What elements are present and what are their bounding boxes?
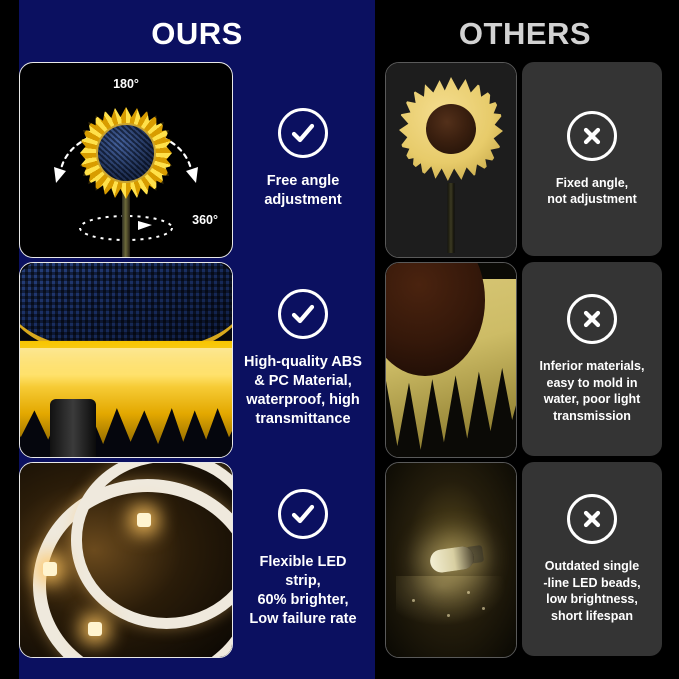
ours-caption-1: Free angle adjustment [262, 172, 343, 210]
others-text-card-3: Outdated single -line LED beads, low bri… [522, 462, 662, 656]
panel-closeup-scene [20, 263, 232, 457]
ours-text-card-3: Flexible LED strip, 60% brighter, Low fa… [238, 462, 368, 656]
others-caption-1: Fixed angle, not adjustment [541, 175, 643, 208]
others-sunflower-scene [386, 63, 516, 257]
comparison-row-2: High-quality ABS & PC Material, waterpro… [0, 262, 679, 456]
water-droplet [412, 599, 415, 602]
others-header: OTHERS [390, 18, 660, 49]
lamp-stem [122, 191, 130, 257]
led-light-point [88, 622, 102, 636]
sunflower-photo [399, 77, 503, 181]
check-icon [278, 108, 328, 158]
others-image-2-wilted-sunflower [385, 262, 517, 458]
led-light-point [137, 513, 151, 527]
flower-center [426, 104, 476, 154]
others-caption-2: Inferior materials, easy to mold in wate… [534, 358, 651, 424]
others-image-1-sunflower-photo [385, 62, 517, 258]
cross-icon [567, 294, 617, 344]
others-text-card-1: Fixed angle, not adjustment [522, 62, 662, 256]
ours-image-1-sunflower-angle-diagram: 180° 360° [19, 62, 233, 258]
water-droplet [482, 607, 485, 610]
ours-image-2-panel-closeup [19, 262, 233, 458]
led-strip-scene [20, 463, 232, 657]
ours-text-card-1: Free angle adjustment [238, 62, 368, 256]
others-image-3-bulb-in-water [385, 462, 517, 658]
check-icon [278, 489, 328, 539]
cross-icon [567, 494, 617, 544]
others-caption-3: Outdated single -line LED beads, low bri… [537, 558, 646, 624]
led-light-point [43, 562, 57, 576]
water-droplet [467, 591, 470, 594]
others-text-card-2: Inferior materials, easy to mold in wate… [522, 262, 662, 456]
comparison-row-1: 180° 360° Free angle adjustment [0, 62, 679, 256]
ours-header: OURS [19, 18, 375, 49]
comparison-row-3: Flexible LED strip, 60% brighter, Low fa… [0, 462, 679, 656]
petal-gloss-highlight [19, 348, 233, 387]
flower-stem [448, 183, 455, 253]
cross-icon [567, 111, 617, 161]
ours-text-card-2: High-quality ABS & PC Material, waterpro… [238, 262, 368, 456]
rotation-angle-label: 360° [192, 213, 218, 227]
check-icon [278, 289, 328, 339]
sunflower-lamp-head [80, 107, 172, 199]
ours-image-3-led-strip [19, 462, 233, 658]
sunflower-angle-scene: 180° 360° [20, 63, 232, 257]
comparison-infographic: OURS OTHERS 180° 360° [0, 0, 679, 679]
wilted-sunflower-scene [386, 263, 516, 457]
ours-caption-2: High-quality ABS & PC Material, waterpro… [242, 353, 364, 430]
arc-angle-label: 180° [113, 77, 139, 91]
mounting-stake [50, 399, 96, 457]
ours-caption-3: Flexible LED strip, 60% brighter, Low fa… [238, 553, 368, 630]
led-bulb [429, 545, 476, 574]
bulb-in-water-scene [386, 463, 516, 657]
